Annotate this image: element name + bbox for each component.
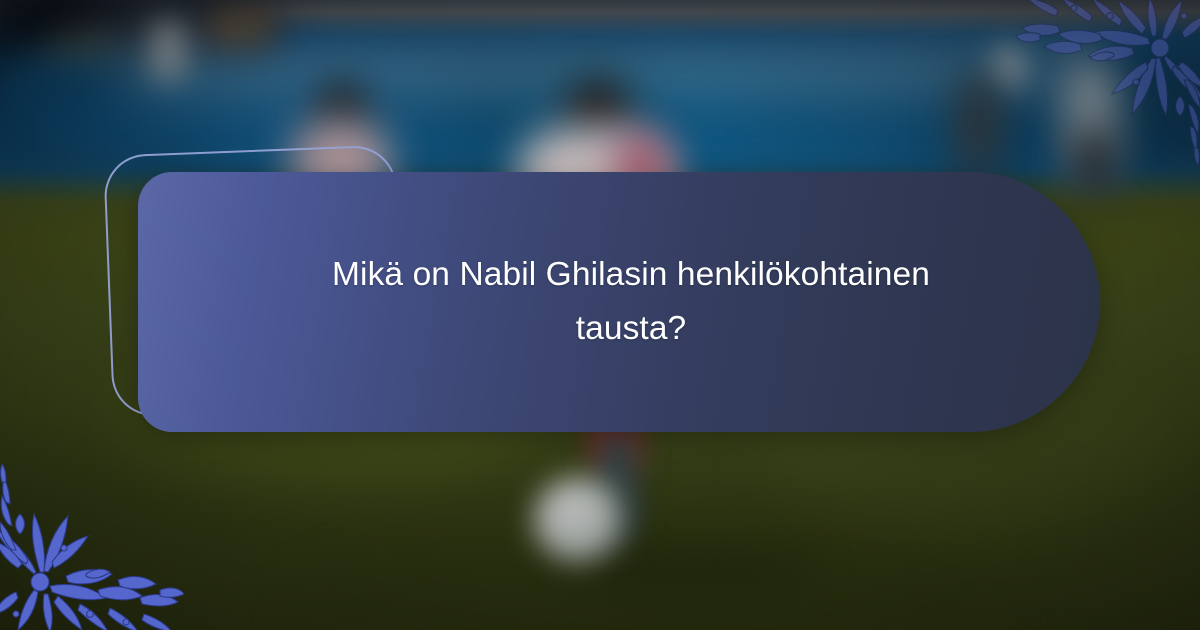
card-group: Mikä on Nabil Ghilasin henkilökohtainen … <box>0 0 1200 630</box>
question-card[interactable]: Mikä on Nabil Ghilasin henkilökohtainen … <box>138 172 1100 432</box>
card-title: Mikä on Nabil Ghilasin henkilökohtainen … <box>281 248 981 357</box>
share-card-canvas: Mikä on Nabil Ghilasin henkilökohtainen … <box>0 0 1200 630</box>
